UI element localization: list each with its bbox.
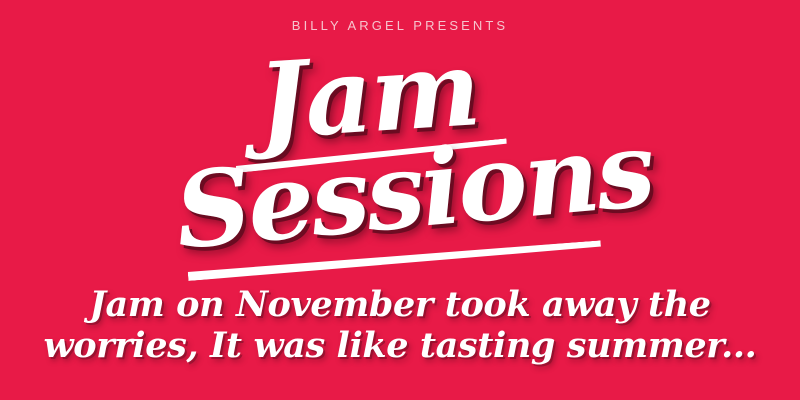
tagline-line-1: Jam on November took away the (0, 284, 800, 325)
tagline-line-2: worries, It was like tasting summer... (0, 325, 800, 366)
font-specimen-poster: BILLY ARGEL PRESENTS Jam Sessions Jam on… (0, 0, 800, 400)
tagline-block: Jam on November took away the worries, I… (0, 284, 800, 366)
wordmark: Jam Sessions (0, 42, 800, 282)
